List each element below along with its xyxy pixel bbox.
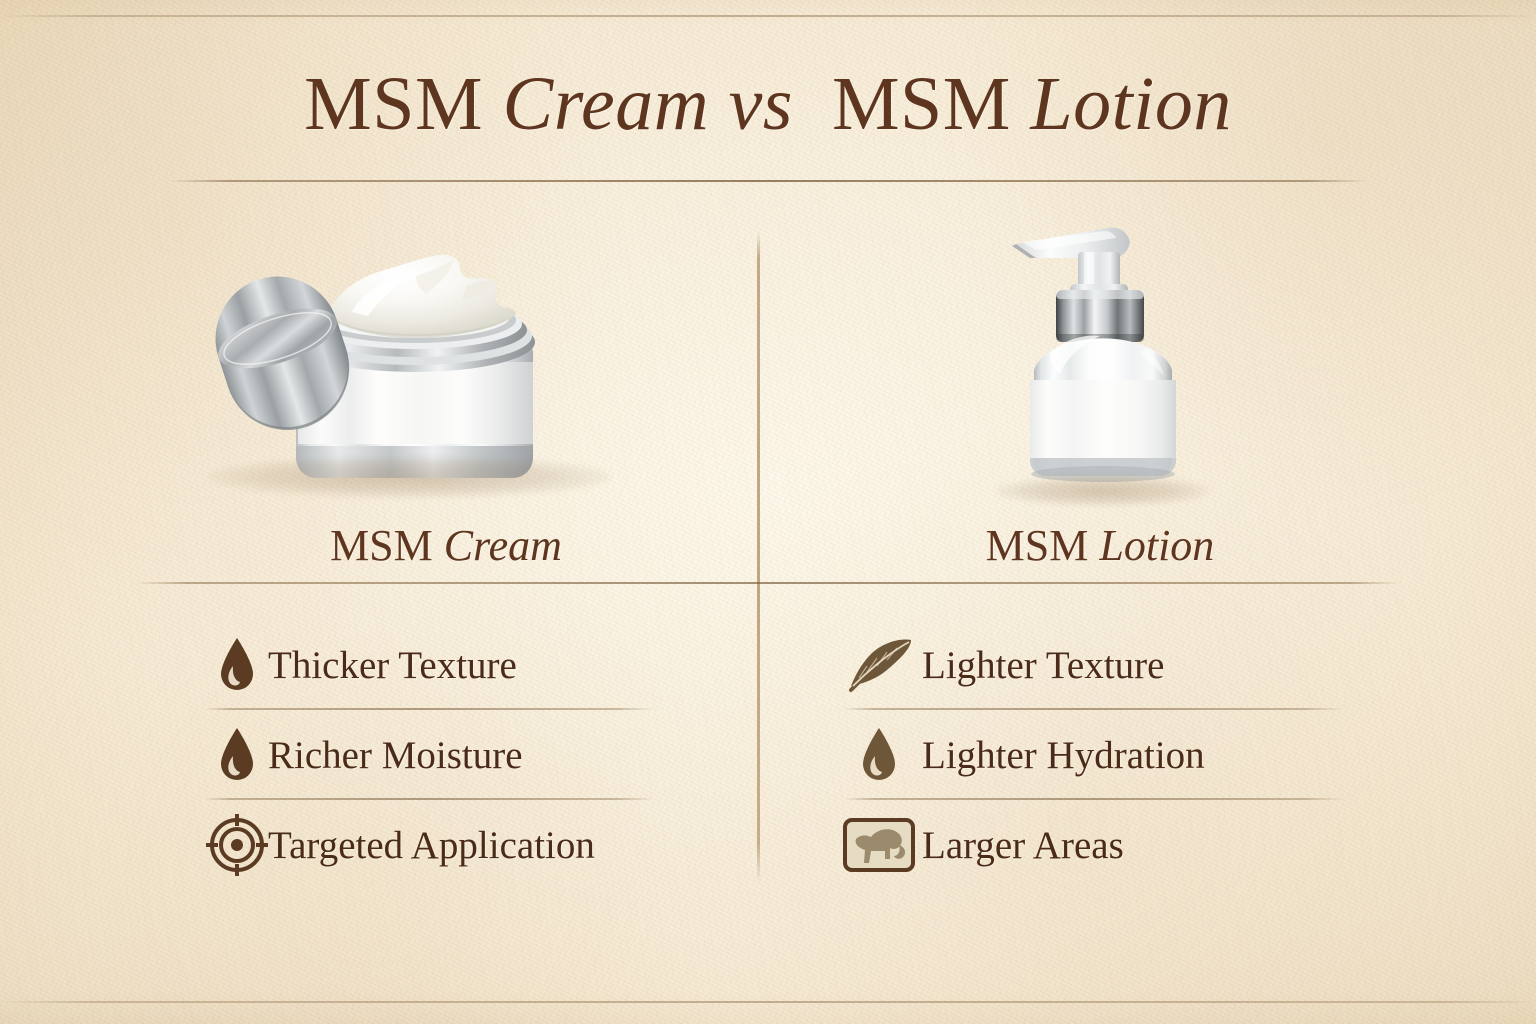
feature-row-lighter-hydration: Lighter Hydration [790,710,1410,800]
product-image-cream [136,214,756,514]
feather-icon [842,632,916,698]
title-word-cream: Cream [503,62,710,146]
crosshair-target-icon [200,812,274,878]
product-name-cream: MSM Cream [136,524,756,568]
product-image-lotion [790,214,1410,514]
product-name-lotion-suffix: Lotion [1099,521,1214,570]
feature-row-larger-areas: Larger Areas [790,800,1410,890]
infographic-canvas: MSM Cream vs MSM Lotion [0,0,1536,1024]
product-name-cream-suffix: Cream [444,521,562,570]
feature-label: Richer Moisture [268,736,523,775]
feature-list-cream: Thicker Texture Richer Moisture [136,620,756,890]
title-word-msm-1: MSM [304,62,483,146]
title-word-vs: vs [729,62,793,146]
feature-row-richer-moisture: Richer Moisture [136,710,756,800]
product-name-cream-prefix: MSM [330,521,433,570]
feature-label: Lighter Texture [922,646,1164,685]
title-word-msm-2: MSM [832,62,1011,146]
droplet-icon [842,722,916,788]
droplet-icon [200,632,274,698]
product-name-lotion-prefix: MSM [986,521,1089,570]
top-edge-rule [0,15,1536,17]
feature-label: Thicker Texture [268,646,517,685]
title-underline-rule [168,180,1368,182]
column-divider [757,232,760,882]
feature-row-lighter-texture: Lighter Texture [790,620,1410,710]
feature-label: Larger Areas [922,826,1124,865]
page-title: MSM Cream vs MSM Lotion [0,66,1536,142]
column-lotion: MSM Lotion [790,214,1410,890]
product-name-lotion: MSM Lotion [790,524,1410,568]
title-word-lotion: Lotion [1030,62,1232,146]
body-area-frame-icon [842,812,916,878]
lotion-bottle-svg [978,218,1228,508]
cream-jar-illustration [202,242,622,504]
lotion-bottle-shadow [996,476,1210,506]
feature-list-lotion: Lighter Texture Lighter Hydration [790,620,1410,890]
droplet-icon [200,722,274,788]
bottom-edge-rule [0,1001,1536,1003]
column-cream: MSM Cream Thicker Texture [136,214,756,890]
feature-row-thicker-texture: Thicker Texture [136,620,756,710]
feature-label: Lighter Hydration [922,736,1205,775]
cream-jar-shadow [208,456,612,498]
lotion-bottle-illustration [978,218,1228,508]
feature-row-targeted-application: Targeted Application [136,800,756,890]
feature-label: Targeted Application [268,826,595,865]
